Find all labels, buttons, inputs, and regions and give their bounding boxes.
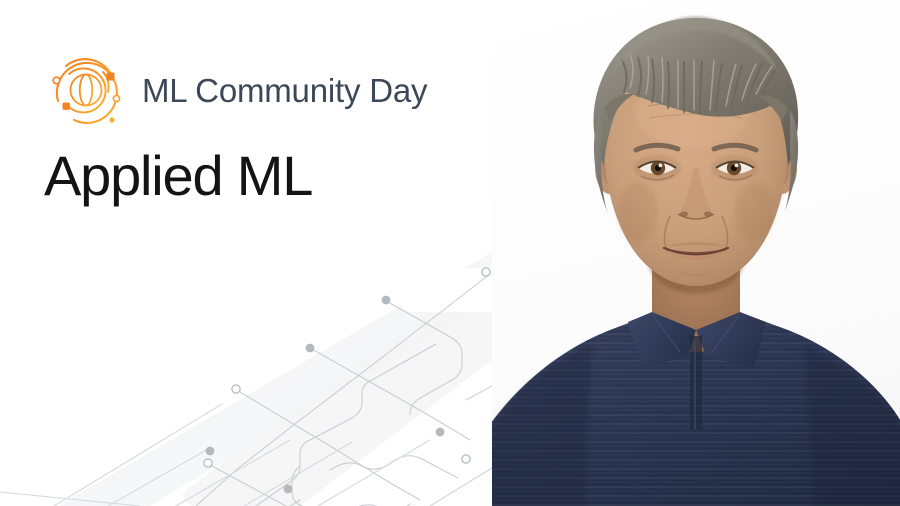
- logo-node-square: [107, 73, 115, 81]
- circuit-node-filled: [284, 485, 293, 494]
- circuit-node-hollow: [204, 459, 212, 467]
- circuit-node-filled: [206, 447, 215, 456]
- logo-node-dot: [109, 117, 114, 122]
- circuit-node-hollow: [462, 455, 470, 463]
- speaker-headshot: [492, 0, 900, 506]
- circuit-nodes: [204, 268, 490, 494]
- circuit-lines: [0, 274, 492, 506]
- decorative-notch: [402, 268, 492, 312]
- logo-node-hollow: [53, 77, 60, 84]
- logo-node-hollow: [113, 95, 119, 101]
- brand-name: ML Community Day: [142, 74, 427, 107]
- page-title: Applied ML: [44, 146, 312, 206]
- globe-orbit-icon: [44, 48, 128, 132]
- circuit-node-filled: [306, 344, 315, 353]
- circuit-node-filled: [436, 428, 445, 437]
- circuit-node-hollow: [232, 385, 240, 393]
- presentation-slide: ML Community Day Applied ML: [0, 0, 900, 506]
- speaker-portrait-panel: [492, 0, 900, 506]
- brand-lockup: ML Community Day: [44, 44, 427, 136]
- decorative-band-upper: [58, 252, 492, 506]
- logo-node-square: [63, 103, 70, 110]
- circuit-node-filled: [382, 296, 391, 305]
- circuit-node-hollow: [482, 268, 490, 276]
- left-content-panel: ML Community Day Applied ML: [0, 0, 492, 506]
- decorative-band-lower: [184, 268, 492, 506]
